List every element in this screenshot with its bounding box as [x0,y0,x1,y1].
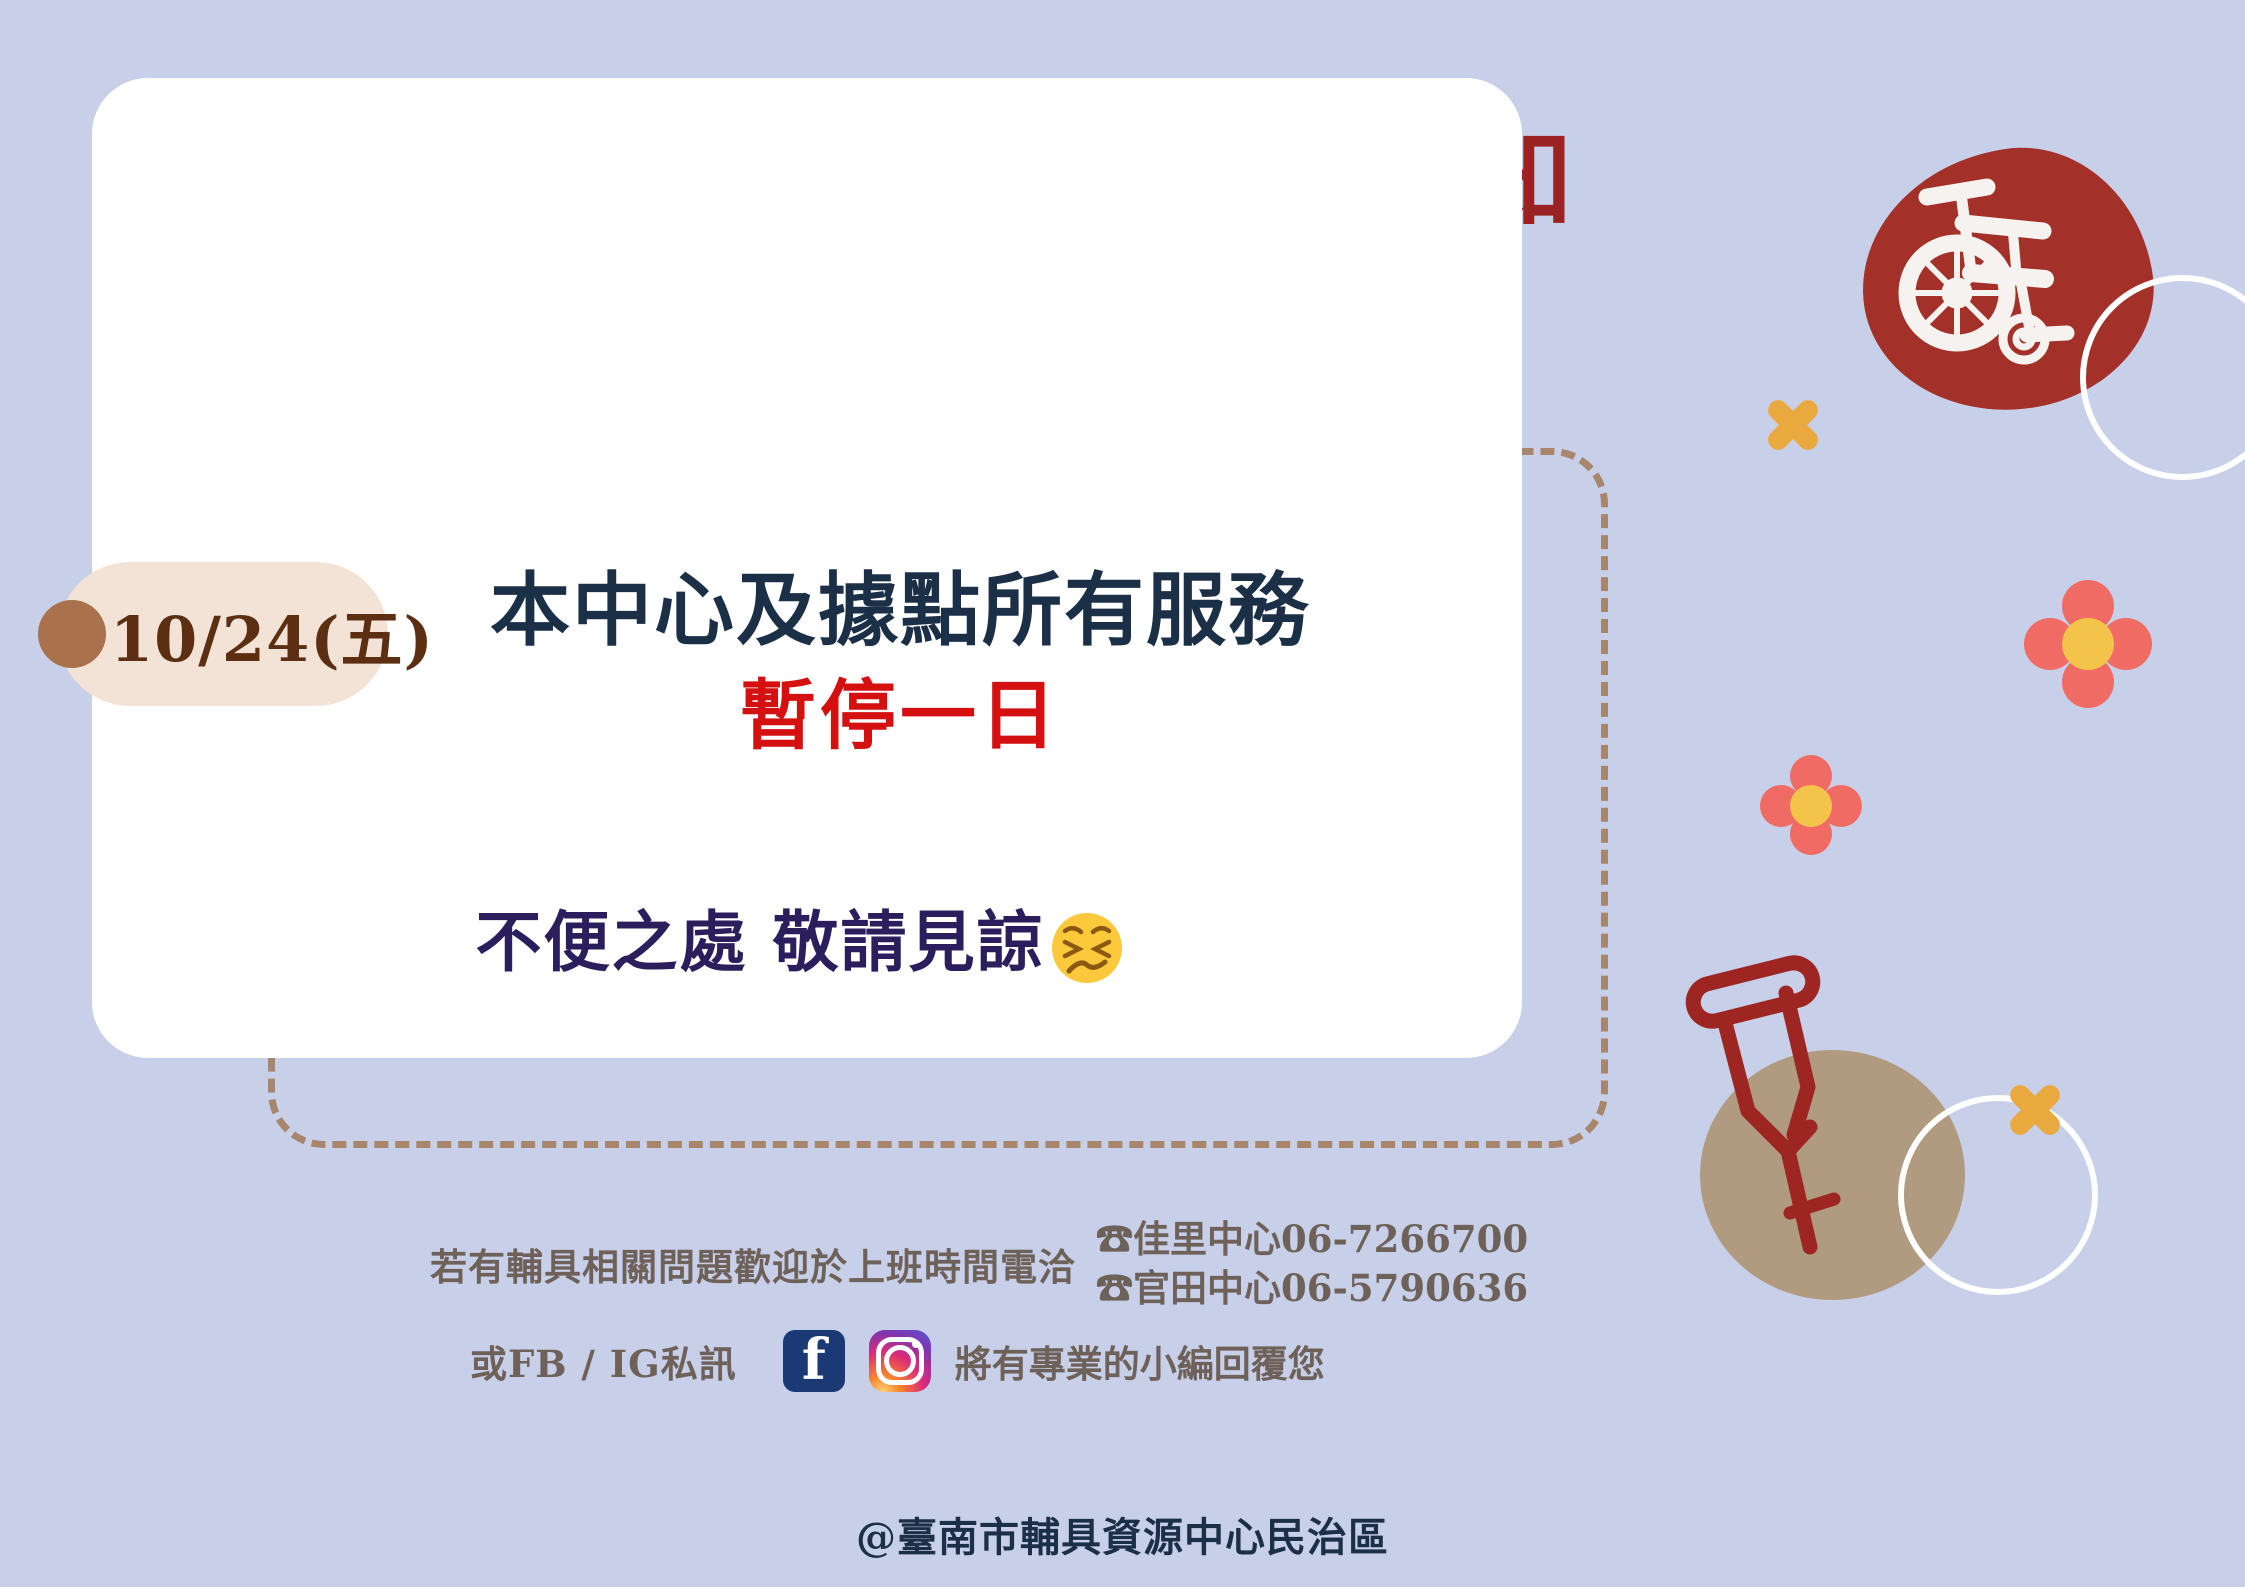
crutch-icon [1682,955,1942,1255]
wheelchair-icon [1895,175,2105,375]
poster-canvas: 服務時間異動通知 適逢光復節連續假期 10/24(五) 本中心及據點所有服務 暫… [0,0,2245,1587]
red-flower [2022,580,2152,710]
persevering-face-icon [1050,911,1124,985]
instagram-lens [884,1345,916,1377]
date-badge-label: 10/24(五) [110,589,434,679]
main-message-line2: 暫停一日 [400,678,1400,754]
orange-x-mark-2 [1995,1070,2075,1150]
facebook-icon[interactable] [783,1330,845,1392]
instagram-dot [912,1340,920,1348]
page-handle: @臺南市輔具資源中心民治區 [0,1505,2245,1563]
footer-contact-row: 若有輔具相關問題歡迎於上班時間電洽 ☎佳里中心06-7266700 ☎官田中心0… [430,1215,1528,1313]
red-flower-2 [1760,755,1860,855]
main-message-line1: 本中心及據點所有服務 [400,570,1400,650]
footer-note: 若有輔具相關問題歡迎於上班時間電洽 [430,1237,1076,1291]
date-badge: 10/24(五) [58,562,388,706]
social-prefix: 或FB / IG私訊 [470,1334,737,1388]
phone-list: ☎佳里中心06-7266700 ☎官田中心06-5790636 [1096,1215,1528,1313]
social-suffix: 將有專業的小編回覆您 [955,1334,1325,1388]
badge-dot-icon [38,600,106,668]
footer-social-row: 或FB / IG私訊 將有專業的小編回覆您 [470,1330,1325,1392]
apology-line: 不便之處 敬請見諒 [0,905,1600,979]
apology-text: 不便之處 敬請見諒 [476,909,1045,975]
orange-x-mark [1758,390,1828,460]
phone-guantian: ☎官田中心06-5790636 [1096,1264,1528,1313]
phone-jiali: ☎佳里中心06-7266700 [1096,1215,1528,1264]
instagram-icon[interactable] [869,1330,931,1392]
